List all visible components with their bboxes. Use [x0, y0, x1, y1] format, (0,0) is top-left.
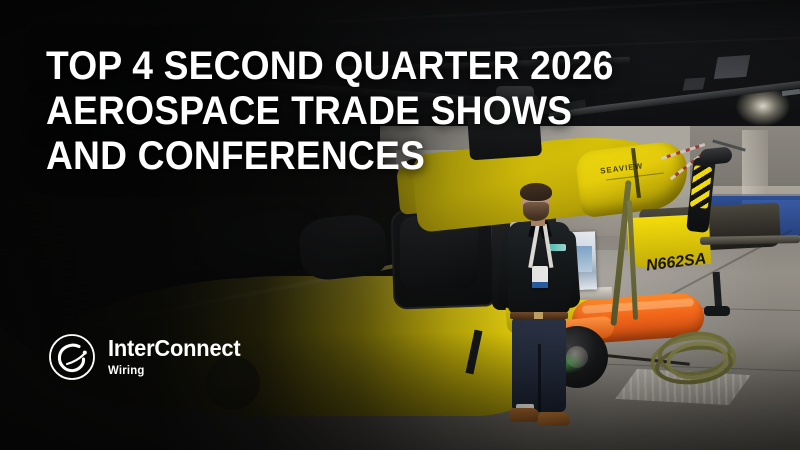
headline-line-3: AND CONFERENCES [46, 134, 641, 179]
headline-line-1: TOP 4 SECOND QUARTER 2026 [46, 44, 641, 89]
brand-logo-text: InterConnect Wiring [108, 337, 247, 378]
headline-line-2: AEROSPACE TRADE SHOWS [46, 89, 641, 134]
company-name: InterConnect [108, 337, 240, 360]
company-tagline: Wiring [108, 362, 240, 378]
interconnect-swoosh-circle-icon [47, 332, 97, 382]
article-hero-banner: SEAVIEW N662SA [0, 0, 800, 450]
page-title: TOP 4 SECOND QUARTER 2026 AEROSPACE TRAD… [46, 44, 686, 179]
brand-logo-lockup[interactable]: InterConnect Wiring [47, 332, 247, 382]
